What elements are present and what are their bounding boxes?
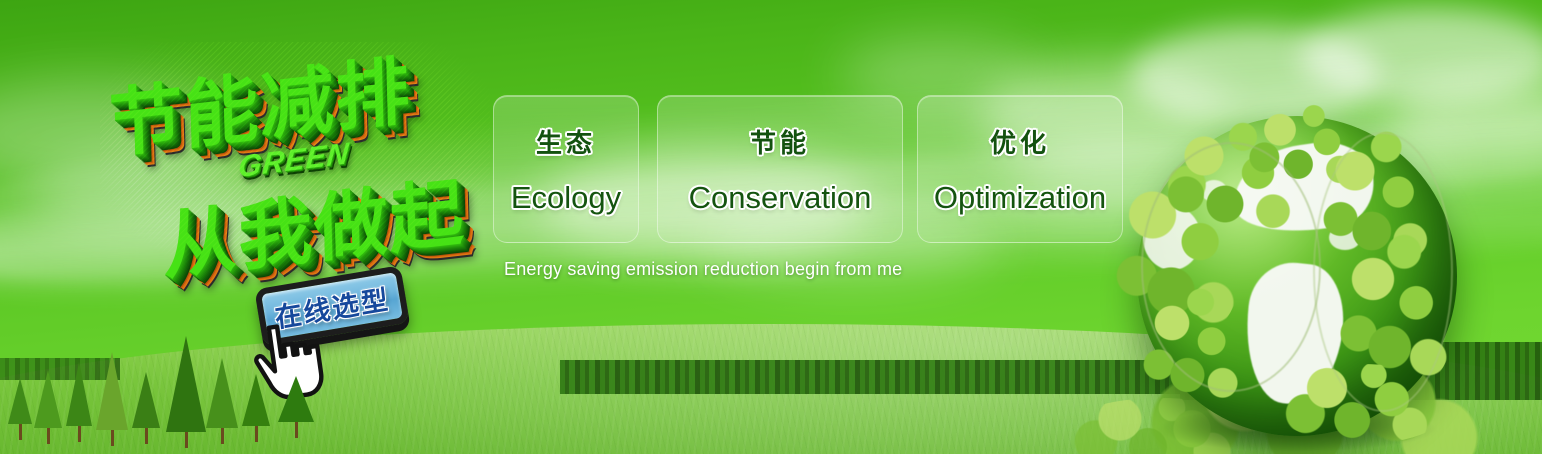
green-banner: 节能减排 GREEN 从我做起 在线选型 生态 Ecology 节能 Conse… [0,0,1542,454]
pine-tree-icon [278,376,314,438]
pine-tree-icon [34,370,62,444]
feature-card-list: 生态 Ecology 节能 Conservation 优化 Optimizati… [0,95,1542,245]
pine-tree-icon [66,362,92,442]
feature-card-title-cn: 优化 [990,123,1050,160]
pine-tree-icon [132,372,160,444]
feature-card-title-cn: 节能 [750,123,810,160]
feature-card-title-en: Optimization [934,180,1106,216]
feature-card-title-en: Conservation [689,180,872,216]
pine-tree-icon [8,378,32,440]
pine-tree-icon [242,374,270,442]
feature-card-title-en: Ecology [511,180,621,216]
foreground-trees [0,334,330,454]
feature-card-ecology[interactable]: 生态 Ecology [493,95,639,243]
pine-tree-icon [166,336,206,448]
tagline-text: Energy saving emission reduction begin f… [504,259,902,280]
pine-tree-icon [206,358,238,444]
feature-card-optimization[interactable]: 优化 Optimization [917,95,1123,243]
treeline-silhouette [560,360,1180,394]
pine-tree-icon [96,352,128,446]
distant-treeline [560,360,1180,394]
feature-card-conservation[interactable]: 节能 Conservation [657,95,903,243]
feature-card-title-cn: 生态 [536,123,596,160]
